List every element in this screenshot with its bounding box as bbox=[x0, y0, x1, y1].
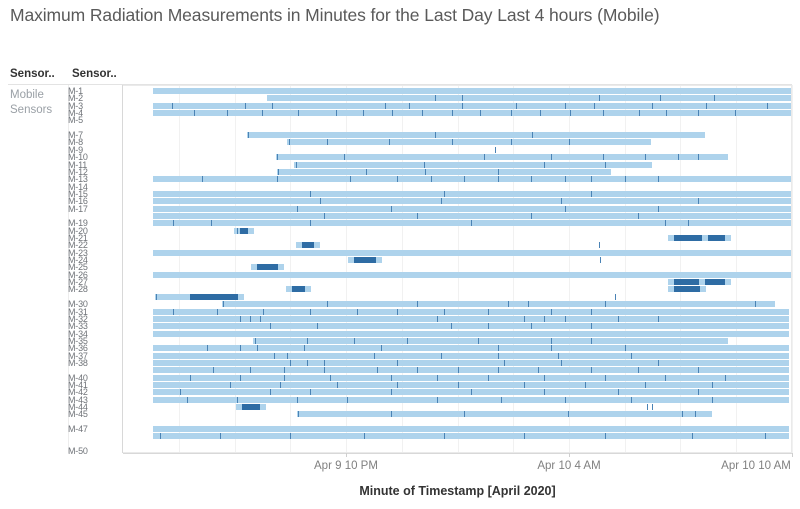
measurement-tick[interactable] bbox=[207, 345, 208, 351]
timeline-bar[interactable] bbox=[253, 338, 728, 344]
measurement-tick[interactable] bbox=[317, 323, 318, 329]
measurement-tick[interactable] bbox=[714, 95, 715, 101]
measurement-tick[interactable] bbox=[511, 110, 512, 116]
measurement-tick[interactable] bbox=[524, 316, 525, 322]
timeline-row[interactable] bbox=[123, 206, 792, 212]
measurement-tick[interactable] bbox=[278, 169, 279, 175]
measurement-tick[interactable] bbox=[363, 110, 364, 116]
measurement-tick[interactable] bbox=[230, 382, 231, 388]
measurement-tick[interactable] bbox=[220, 433, 221, 439]
measurement-tick[interactable] bbox=[357, 309, 358, 315]
measurement-tick[interactable] bbox=[250, 367, 251, 373]
measurement-tick[interactable] bbox=[298, 411, 299, 417]
sensor-row-label[interactable]: M-5 bbox=[68, 116, 118, 125]
measurement-tick[interactable] bbox=[484, 154, 485, 160]
measurement-tick[interactable] bbox=[347, 397, 348, 403]
measurement-tick[interactable] bbox=[568, 411, 569, 417]
timeline-row[interactable] bbox=[123, 191, 792, 197]
timeline-row[interactable] bbox=[123, 389, 792, 395]
x-axis-tick-label[interactable]: Apr 10 10 AM bbox=[721, 460, 791, 472]
measurement-tick[interactable] bbox=[516, 103, 517, 109]
timeline-bar[interactable] bbox=[153, 433, 789, 439]
measurement-tick[interactable] bbox=[565, 176, 566, 182]
field-caption-sensor[interactable]: Sensor.. bbox=[72, 68, 117, 80]
measurement-tick[interactable] bbox=[172, 103, 173, 109]
measurement-tick[interactable] bbox=[277, 176, 278, 182]
measurement-tick[interactable] bbox=[260, 316, 261, 322]
timeline-bar[interactable] bbox=[153, 316, 789, 322]
timeline-bar[interactable] bbox=[267, 95, 792, 101]
measurement-tick[interactable] bbox=[524, 382, 525, 388]
measurement-tick[interactable] bbox=[297, 206, 298, 212]
timeline-row[interactable] bbox=[123, 375, 792, 381]
measurement-tick[interactable] bbox=[391, 206, 392, 212]
timeline-row[interactable] bbox=[123, 345, 792, 351]
measurement-tick[interactable] bbox=[458, 382, 459, 388]
measurement-tick[interactable] bbox=[160, 433, 161, 439]
measurement-tick[interactable] bbox=[488, 375, 489, 381]
measurement-tick[interactable] bbox=[407, 338, 408, 344]
timeline-row[interactable] bbox=[123, 139, 792, 145]
dense-measurement-block[interactable] bbox=[257, 264, 278, 270]
timeline-bar[interactable] bbox=[153, 353, 789, 359]
timeline-bar[interactable] bbox=[294, 162, 652, 168]
measurement-tick[interactable] bbox=[255, 338, 256, 344]
measurement-tick[interactable] bbox=[451, 323, 452, 329]
measurement-tick[interactable] bbox=[765, 433, 766, 439]
measurement-tick[interactable] bbox=[660, 95, 661, 101]
measurement-tick[interactable] bbox=[211, 220, 212, 226]
measurement-tick[interactable] bbox=[532, 132, 533, 138]
timeline-row[interactable] bbox=[123, 117, 792, 123]
measurement-tick[interactable] bbox=[310, 389, 311, 395]
measurement-tick[interactable] bbox=[327, 139, 328, 145]
timeline-bar[interactable] bbox=[153, 176, 792, 182]
measurement-tick[interactable] bbox=[591, 338, 592, 344]
timeline-row[interactable] bbox=[123, 228, 792, 234]
timeline-row[interactable] bbox=[123, 360, 792, 366]
measurement-tick[interactable] bbox=[437, 316, 438, 322]
timeline-row[interactable] bbox=[123, 286, 792, 292]
measurement-tick[interactable] bbox=[625, 176, 626, 182]
timeline-row[interactable] bbox=[123, 441, 792, 447]
timeline-row[interactable] bbox=[123, 397, 792, 403]
timeline-row[interactable] bbox=[123, 257, 792, 263]
timeline-bar[interactable] bbox=[153, 375, 789, 381]
measurement-tick[interactable] bbox=[173, 220, 174, 226]
measurement-tick[interactable] bbox=[307, 360, 308, 366]
timeline-row[interactable] bbox=[123, 169, 792, 175]
sensor-row-label[interactable]: M-45 bbox=[68, 410, 118, 419]
measurement-tick[interactable] bbox=[277, 154, 278, 160]
measurement-tick[interactable] bbox=[591, 367, 592, 373]
measurement-tick[interactable] bbox=[385, 103, 386, 109]
timeline-row[interactable] bbox=[123, 147, 792, 153]
measurement-tick[interactable] bbox=[504, 360, 505, 366]
timeline-row[interactable] bbox=[123, 176, 792, 182]
measurement-tick[interactable] bbox=[274, 353, 275, 359]
timeline-bar[interactable] bbox=[153, 250, 792, 256]
measurement-tick[interactable] bbox=[698, 198, 699, 204]
dense-measurement-block[interactable] bbox=[674, 279, 702, 285]
timeline-bar[interactable] bbox=[153, 88, 792, 94]
measurement-tick[interactable] bbox=[639, 110, 640, 116]
measurement-tick[interactable] bbox=[712, 397, 713, 403]
measurement-tick[interactable] bbox=[190, 375, 191, 381]
measurement-tick[interactable] bbox=[304, 345, 305, 351]
measurement-tick[interactable] bbox=[444, 433, 445, 439]
measurement-tick[interactable] bbox=[248, 132, 249, 138]
measurement-tick[interactable] bbox=[561, 198, 562, 204]
measurement-tick[interactable] bbox=[508, 301, 509, 307]
measurement-tick[interactable] bbox=[471, 389, 472, 395]
measurement-tick[interactable] bbox=[540, 110, 541, 116]
sensor-row-label[interactable]: M-38 bbox=[68, 359, 118, 368]
measurement-tick[interactable] bbox=[452, 139, 453, 145]
measurement-tick[interactable] bbox=[310, 309, 311, 315]
dense-measurement-block[interactable] bbox=[708, 235, 725, 241]
timeline-bar[interactable] bbox=[153, 110, 792, 116]
measurement-tick[interactable] bbox=[658, 176, 659, 182]
measurement-tick[interactable] bbox=[397, 176, 398, 182]
dense-measurement-block[interactable] bbox=[674, 235, 704, 241]
measurement-tick[interactable] bbox=[257, 345, 258, 351]
measurement-tick[interactable] bbox=[354, 338, 355, 344]
measurement-tick[interactable] bbox=[585, 382, 586, 388]
measurement-tick[interactable] bbox=[498, 169, 499, 175]
measurement-tick[interactable] bbox=[591, 309, 592, 315]
timeline-row[interactable] bbox=[123, 309, 792, 315]
measurement-tick[interactable] bbox=[631, 397, 632, 403]
timeline-row[interactable] bbox=[123, 154, 792, 160]
measurement-tick[interactable] bbox=[417, 213, 418, 219]
timeline-row[interactable] bbox=[123, 411, 792, 417]
measurement-tick[interactable] bbox=[594, 103, 595, 109]
timeline-row[interactable] bbox=[123, 433, 792, 439]
measurement-tick[interactable] bbox=[678, 154, 679, 160]
measurement-tick[interactable] bbox=[270, 323, 271, 329]
measurement-tick[interactable] bbox=[755, 301, 756, 307]
measurement-tick[interactable] bbox=[478, 338, 479, 344]
timeline-bar[interactable] bbox=[153, 272, 792, 278]
timeline-row[interactable] bbox=[123, 404, 792, 410]
measurement-tick[interactable] bbox=[310, 220, 311, 226]
measurement-tick[interactable] bbox=[237, 397, 238, 403]
timeline-row[interactable] bbox=[123, 272, 792, 278]
measurement-tick[interactable] bbox=[320, 198, 321, 204]
measurement-tick[interactable] bbox=[240, 345, 241, 351]
measurement-tick[interactable] bbox=[591, 323, 592, 329]
timeline-bar[interactable] bbox=[153, 103, 792, 109]
dense-measurement-block[interactable] bbox=[190, 294, 238, 300]
timeline-row[interactable] bbox=[123, 162, 792, 168]
measurement-tick[interactable] bbox=[531, 213, 532, 219]
timeline-row[interactable] bbox=[123, 294, 792, 300]
measurement-tick[interactable] bbox=[227, 110, 228, 116]
measurement-tick[interactable] bbox=[240, 375, 241, 381]
timeline-bar[interactable] bbox=[153, 220, 792, 226]
timeline-bar[interactable] bbox=[277, 169, 612, 175]
measurement-tick[interactable] bbox=[444, 309, 445, 315]
timeline-row[interactable] bbox=[123, 331, 792, 337]
measurement-tick[interactable] bbox=[698, 154, 699, 160]
measurement-tick[interactable] bbox=[488, 309, 489, 315]
measurement-tick[interactable] bbox=[290, 433, 291, 439]
measurement-tick[interactable] bbox=[501, 397, 502, 403]
measurement-tick[interactable] bbox=[631, 353, 632, 359]
timeline-row[interactable] bbox=[123, 110, 792, 116]
timeline-bar[interactable] bbox=[153, 345, 789, 351]
measurement-tick[interactable] bbox=[437, 375, 438, 381]
measurement-tick[interactable] bbox=[498, 176, 499, 182]
measurement-tick[interactable] bbox=[652, 404, 653, 410]
measurement-tick[interactable] bbox=[324, 360, 325, 366]
measurement-tick[interactable] bbox=[645, 154, 646, 160]
measurement-tick[interactable] bbox=[570, 110, 571, 116]
dense-measurement-block[interactable] bbox=[302, 242, 313, 248]
timeline-row[interactable] bbox=[123, 316, 792, 322]
timeline-row[interactable] bbox=[123, 367, 792, 373]
measurement-tick[interactable] bbox=[605, 162, 606, 168]
timeline-plot-pane[interactable] bbox=[123, 85, 792, 453]
measurement-tick[interactable] bbox=[441, 353, 442, 359]
timeline-bar[interactable] bbox=[153, 191, 792, 197]
measurement-tick[interactable] bbox=[381, 345, 382, 351]
measurement-tick[interactable] bbox=[565, 316, 566, 322]
measurement-tick[interactable] bbox=[180, 389, 181, 395]
timeline-bar[interactable] bbox=[153, 367, 789, 373]
measurement-tick[interactable] bbox=[397, 382, 398, 388]
measurement-tick[interactable] bbox=[173, 309, 174, 315]
measurement-tick[interactable] bbox=[156, 294, 157, 300]
measurement-tick[interactable] bbox=[600, 257, 601, 263]
measurement-tick[interactable] bbox=[544, 316, 545, 322]
timeline-bar[interactable] bbox=[297, 411, 712, 417]
measurement-tick[interactable] bbox=[422, 110, 423, 116]
measurement-tick[interactable] bbox=[263, 309, 264, 315]
measurement-tick[interactable] bbox=[565, 397, 566, 403]
measurement-tick[interactable] bbox=[498, 345, 499, 351]
timeline-bar[interactable] bbox=[287, 139, 652, 145]
measurement-tick[interactable] bbox=[706, 103, 707, 109]
measurement-tick[interactable] bbox=[524, 433, 525, 439]
timeline-row[interactable] bbox=[123, 323, 792, 329]
timeline-bar[interactable] bbox=[222, 301, 775, 307]
measurement-tick[interactable] bbox=[270, 389, 271, 395]
measurement-tick[interactable] bbox=[682, 411, 683, 417]
measurement-tick[interactable] bbox=[558, 353, 559, 359]
dense-measurement-block[interactable] bbox=[674, 286, 700, 292]
dense-measurement-block[interactable] bbox=[240, 228, 248, 234]
measurement-tick[interactable] bbox=[551, 345, 552, 351]
measurement-tick[interactable] bbox=[245, 103, 246, 109]
measurement-tick[interactable] bbox=[223, 301, 224, 307]
measurement-tick[interactable] bbox=[618, 316, 619, 322]
measurement-tick[interactable] bbox=[392, 110, 393, 116]
measurement-tick[interactable] bbox=[599, 95, 600, 101]
timeline-bar[interactable] bbox=[153, 323, 789, 329]
measurement-tick[interactable] bbox=[544, 162, 545, 168]
measurement-tick[interactable] bbox=[480, 110, 481, 116]
field-caption-group[interactable]: Sensor.. bbox=[10, 68, 55, 80]
measurement-tick[interactable] bbox=[444, 191, 445, 197]
measurement-tick[interactable] bbox=[435, 132, 436, 138]
measurement-tick[interactable] bbox=[591, 191, 592, 197]
timeline-row[interactable] bbox=[123, 242, 792, 248]
timeline-row[interactable] bbox=[123, 382, 792, 388]
measurement-tick[interactable] bbox=[666, 110, 667, 116]
timeline-bar[interactable] bbox=[153, 198, 792, 204]
measurement-tick[interactable] bbox=[298, 110, 299, 116]
timeline-row[interactable] bbox=[123, 132, 792, 138]
measurement-tick[interactable] bbox=[289, 139, 290, 145]
measurement-tick[interactable] bbox=[464, 176, 465, 182]
measurement-tick[interactable] bbox=[397, 360, 398, 366]
measurement-tick[interactable] bbox=[551, 154, 552, 160]
measurement-tick[interactable] bbox=[698, 367, 699, 373]
dense-measurement-block[interactable] bbox=[292, 286, 305, 292]
measurement-tick[interactable] bbox=[638, 213, 639, 219]
x-axis-tick-label[interactable]: Apr 9 10 PM bbox=[314, 460, 378, 472]
measurement-tick[interactable] bbox=[287, 353, 288, 359]
timeline-bar[interactable] bbox=[153, 360, 789, 366]
measurement-tick[interactable] bbox=[658, 316, 659, 322]
measurement-tick[interactable] bbox=[424, 162, 425, 168]
measurement-tick[interactable] bbox=[495, 147, 496, 153]
measurement-tick[interactable] bbox=[272, 103, 273, 109]
measurement-tick[interactable] bbox=[389, 139, 390, 145]
sensor-row-label[interactable]: M-28 bbox=[68, 285, 118, 294]
measurement-tick[interactable] bbox=[330, 375, 331, 381]
measurement-tick[interactable] bbox=[603, 110, 604, 116]
measurement-tick[interactable] bbox=[290, 360, 291, 366]
measurement-tick[interactable] bbox=[625, 345, 626, 351]
measurement-tick[interactable] bbox=[551, 338, 552, 344]
measurement-tick[interactable] bbox=[462, 95, 463, 101]
measurement-tick[interactable] bbox=[712, 382, 713, 388]
measurement-tick[interactable] bbox=[202, 176, 203, 182]
measurement-tick[interactable] bbox=[605, 375, 606, 381]
measurement-tick[interactable] bbox=[337, 382, 338, 388]
measurement-tick[interactable] bbox=[615, 294, 616, 300]
measurement-tick[interactable] bbox=[425, 169, 426, 175]
measurement-tick[interactable] bbox=[538, 367, 539, 373]
measurement-tick[interactable] bbox=[767, 103, 768, 109]
measurement-tick[interactable] bbox=[391, 375, 392, 381]
measurement-tick[interactable] bbox=[391, 411, 392, 417]
sensor-row-label[interactable]: M-47 bbox=[68, 425, 118, 434]
measurement-tick[interactable] bbox=[591, 176, 592, 182]
measurement-tick[interactable] bbox=[441, 198, 442, 204]
timeline-row[interactable] bbox=[123, 184, 792, 190]
measurement-tick[interactable] bbox=[531, 323, 532, 329]
timeline-row[interactable] bbox=[123, 279, 792, 285]
dense-measurement-block[interactable] bbox=[242, 404, 260, 410]
measurement-tick[interactable] bbox=[324, 213, 325, 219]
measurement-tick[interactable] bbox=[336, 110, 337, 116]
timeline-row[interactable] bbox=[123, 264, 792, 270]
measurement-tick[interactable] bbox=[544, 375, 545, 381]
measurement-tick[interactable] bbox=[692, 433, 693, 439]
dense-measurement-block[interactable] bbox=[705, 279, 725, 285]
measurement-tick[interactable] bbox=[364, 433, 365, 439]
measurement-tick[interactable] bbox=[565, 103, 566, 109]
measurement-tick[interactable] bbox=[531, 176, 532, 182]
measurement-tick[interactable] bbox=[688, 220, 689, 226]
measurement-tick[interactable] bbox=[652, 103, 653, 109]
measurement-tick[interactable] bbox=[458, 367, 459, 373]
measurement-tick[interactable] bbox=[665, 220, 666, 226]
timeline-row[interactable] bbox=[123, 103, 792, 109]
timeline-bar[interactable] bbox=[153, 382, 789, 388]
sensor-row-label[interactable]: M-50 bbox=[68, 447, 118, 456]
timeline-row[interactable] bbox=[123, 95, 792, 101]
measurement-tick[interactable] bbox=[350, 176, 351, 182]
measurement-tick[interactable] bbox=[561, 360, 562, 366]
measurement-tick[interactable] bbox=[296, 162, 297, 168]
measurement-tick[interactable] bbox=[698, 389, 699, 395]
timeline-row[interactable] bbox=[123, 88, 792, 94]
timeline-bar[interactable] bbox=[153, 213, 792, 219]
timeline-row[interactable] bbox=[123, 213, 792, 219]
measurement-tick[interactable] bbox=[551, 309, 552, 315]
timeline-bar[interactable] bbox=[153, 426, 789, 432]
measurement-tick[interactable] bbox=[695, 411, 696, 417]
measurement-tick[interactable] bbox=[374, 353, 375, 359]
timeline-bar[interactable] bbox=[153, 206, 792, 212]
measurement-tick[interactable] bbox=[324, 367, 325, 373]
measurement-tick[interactable] bbox=[284, 375, 285, 381]
measurement-tick[interactable] bbox=[603, 154, 604, 160]
measurement-tick[interactable] bbox=[391, 389, 392, 395]
measurement-tick[interactable] bbox=[638, 367, 639, 373]
measurement-tick[interactable] bbox=[431, 176, 432, 182]
measurement-tick[interactable] bbox=[417, 367, 418, 373]
timeline-bar[interactable] bbox=[153, 397, 789, 403]
measurement-tick[interactable] bbox=[280, 382, 281, 388]
measurement-tick[interactable] bbox=[498, 353, 499, 359]
measurement-tick[interactable] bbox=[240, 316, 241, 322]
timeline-row[interactable] bbox=[123, 235, 792, 241]
measurement-tick[interactable] bbox=[344, 154, 345, 160]
measurement-tick[interactable] bbox=[471, 220, 472, 226]
measurement-tick[interactable] bbox=[658, 206, 659, 212]
measurement-tick[interactable] bbox=[452, 110, 453, 116]
timeline-row[interactable] bbox=[123, 198, 792, 204]
timeline-row[interactable] bbox=[123, 301, 792, 307]
timeline-row[interactable] bbox=[123, 125, 792, 131]
measurement-tick[interactable] bbox=[435, 95, 436, 101]
measurement-tick[interactable] bbox=[565, 206, 566, 212]
measurement-tick[interactable] bbox=[647, 404, 648, 410]
measurement-tick[interactable] bbox=[284, 367, 285, 373]
timeline-row[interactable] bbox=[123, 250, 792, 256]
timeline-row[interactable] bbox=[123, 220, 792, 226]
measurement-tick[interactable] bbox=[307, 338, 308, 344]
measurement-tick[interactable] bbox=[658, 360, 659, 366]
measurement-tick[interactable] bbox=[599, 242, 600, 248]
measurement-tick[interactable] bbox=[464, 411, 465, 417]
measurement-tick[interactable] bbox=[377, 367, 378, 373]
measurement-tick[interactable] bbox=[437, 397, 438, 403]
timeline-bar[interactable] bbox=[153, 309, 789, 315]
measurement-tick[interactable] bbox=[262, 110, 263, 116]
measurement-tick[interactable] bbox=[310, 191, 311, 197]
dense-measurement-block[interactable] bbox=[354, 257, 376, 263]
measurement-tick[interactable] bbox=[237, 228, 238, 234]
measurement-tick[interactable] bbox=[698, 110, 699, 116]
measurement-tick[interactable] bbox=[605, 301, 606, 307]
